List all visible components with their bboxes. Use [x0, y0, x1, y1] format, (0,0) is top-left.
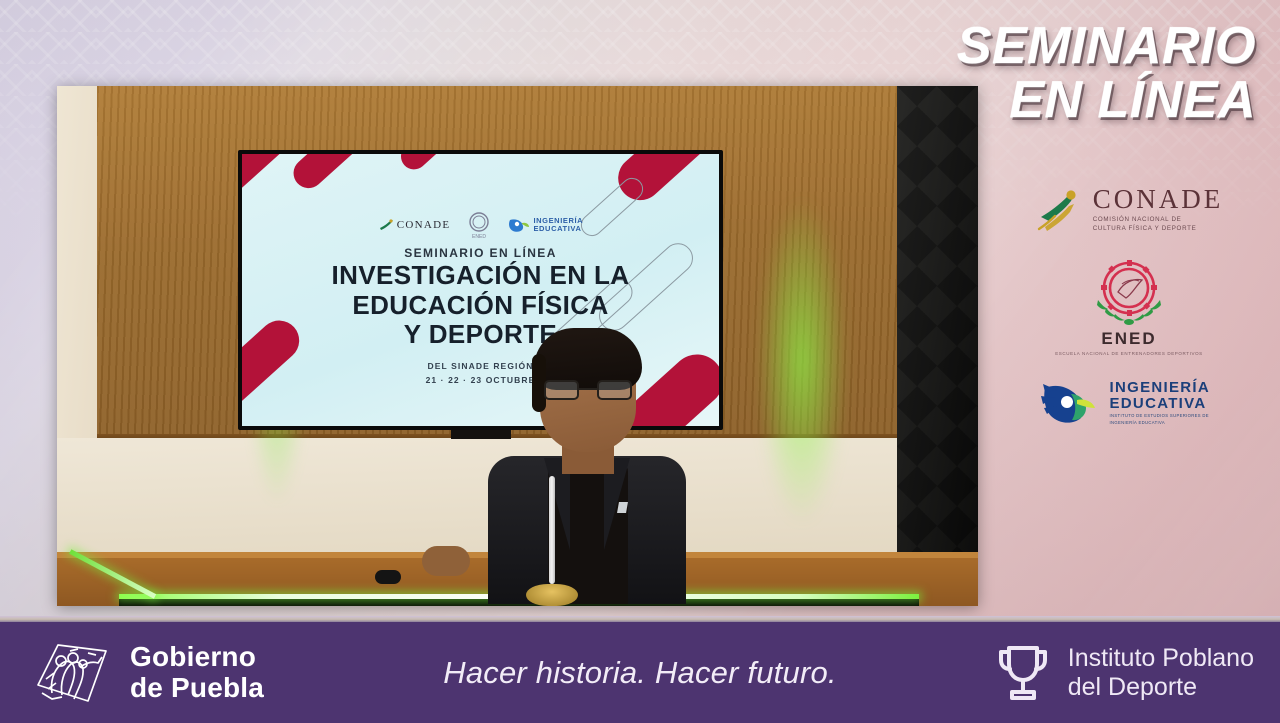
conade-name: CONADE — [1093, 186, 1224, 213]
sponsor-logo-conade: CONADE COMISIÓN NACIONAL DE CULTURA FÍSI… — [1035, 186, 1224, 234]
ened-emblem-icon — [1082, 256, 1176, 328]
instituto-line-2: del Deporte — [1068, 673, 1254, 702]
headline: SEMINARIO EN LÍNEA — [836, 22, 1256, 126]
runner-icon — [378, 219, 394, 232]
microphone — [549, 476, 555, 584]
instituto-line-1: Instituto Poblano — [1068, 644, 1254, 673]
slide-logo-ened: ENED — [466, 210, 492, 240]
microphone-base — [526, 584, 578, 606]
ened-subtitle: ESCUELA NACIONAL DE ENTRENADORES DEPORTI… — [1055, 351, 1203, 356]
runner-icon — [1035, 187, 1085, 233]
computer-mouse — [375, 570, 401, 584]
instituto-poblano-del-deporte-logo: Instituto Poblano del Deporte — [994, 642, 1254, 704]
sponsor-logo-ened: ENED ESCUELA NACIONAL DE ENTRENADORES DE… — [1055, 256, 1203, 356]
sponsor-logo-column: CONADE COMISIÓN NACIONAL DE CULTURA FÍSI… — [978, 186, 1280, 428]
ingedu-text: INGENIERÍA EDUCATIVA INSTITUTO DE ESTUDI… — [1110, 380, 1218, 426]
svg-text:ENED: ENED — [472, 234, 486, 240]
instituto-text: Instituto Poblano del Deporte — [1068, 644, 1254, 701]
trophy-icon — [994, 642, 1052, 704]
led-glow-right — [757, 196, 847, 526]
acoustic-panel-shading — [897, 86, 978, 556]
headline-line-2: EN LÍNEA — [836, 76, 1256, 126]
broadcast-stage: SEMINARIO EN LÍNEA CONADE COMISIÓN NACIO… — [0, 0, 1280, 723]
slide-logo-row: CONADE ENED — [242, 210, 719, 240]
slide-kicker: SEMINARIO EN LÍNEA — [242, 246, 719, 260]
bottom-bar-divider — [0, 616, 1280, 622]
conade-text: CONADE COMISIÓN NACIONAL DE CULTURA FÍSI… — [1093, 186, 1224, 234]
ingedu-subtitle: INSTITUTO DE ESTUDIOS SUPERIORES DE INGE… — [1110, 413, 1218, 426]
eagle-head-icon — [508, 216, 530, 234]
slide-shape — [287, 154, 396, 194]
ingedu-name-line-1: INGENIERÍA — [1110, 380, 1218, 396]
presenter — [482, 334, 692, 604]
slide-logo-conade: CONADE — [378, 219, 451, 232]
slide-shape — [396, 154, 485, 175]
ingedu-name-line-2: EDUCATIVA — [1110, 396, 1218, 412]
sponsor-logo-ingenieria-educativa: INGENIERÍA EDUCATIVA INSTITUTO DE ESTUDI… — [1041, 378, 1218, 428]
bottom-bar: Gobierno de Puebla Hacer historia. Hacer… — [0, 622, 1280, 723]
headline-line-1: SEMINARIO — [836, 22, 1256, 72]
live-video-feed[interactable]: CONADE ENED — [57, 86, 978, 606]
presenter-hand — [422, 546, 470, 576]
slide-logo-ingenieria-educativa: INGENIERÍA EDUCATIVA — [508, 216, 583, 234]
ened-name: ENED — [1101, 329, 1156, 349]
slide-title-line-1: INVESTIGACIÓN EN LA — [242, 262, 719, 290]
slide-ingedu-line-2: EDUCATIVA — [533, 225, 583, 233]
slide-title-line-2: EDUCACIÓN FÍSICA — [242, 292, 719, 320]
eagle-head-icon — [1041, 378, 1103, 428]
glasses-icon — [544, 380, 632, 400]
slide-conade-name: CONADE — [397, 219, 451, 231]
conade-subtitle: COMISIÓN NACIONAL DE CULTURA FÍSICA Y DE… — [1093, 216, 1217, 234]
